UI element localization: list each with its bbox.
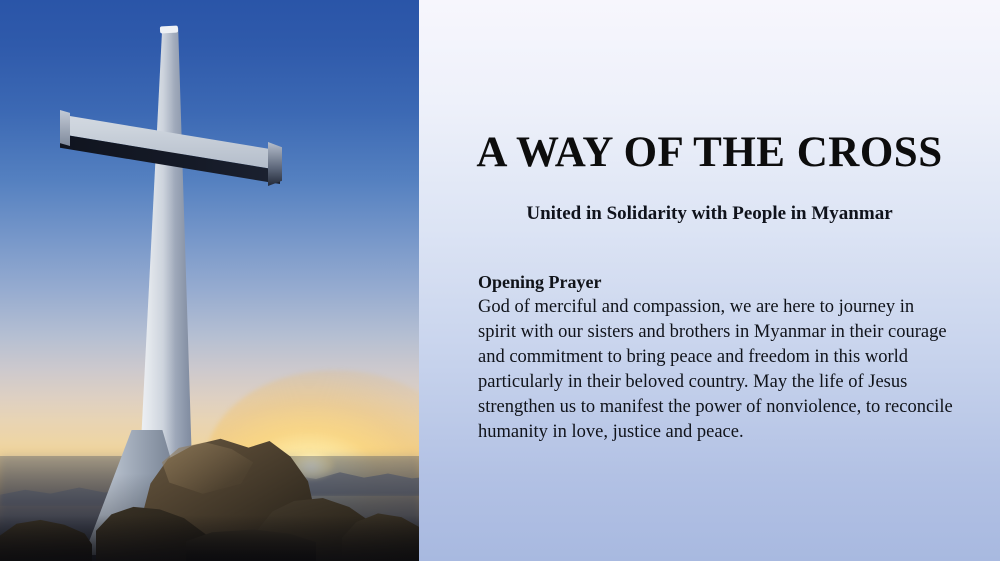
page-title: A WAY OF THE CROSS xyxy=(419,128,1000,177)
cross-arm-left-end xyxy=(60,110,70,146)
content-panel: A WAY OF THE CROSS United in Solidarity … xyxy=(419,0,1000,561)
opening-prayer-block: Opening Prayer God of merciful and compa… xyxy=(478,270,956,445)
cross-sunset-photo xyxy=(0,0,419,561)
cross-shaft-highlight xyxy=(128,28,204,460)
opening-prayer-heading: Opening Prayer xyxy=(478,270,956,295)
foreground-shadow xyxy=(0,515,419,561)
cross-arm-right-end xyxy=(268,142,282,186)
slide: A WAY OF THE CROSS United in Solidarity … xyxy=(0,0,1000,561)
cross-top-end xyxy=(160,26,178,34)
opening-prayer-text: God of merciful and compassion, we are h… xyxy=(478,295,956,445)
page-subtitle: United in Solidarity with People in Myan… xyxy=(419,203,1000,225)
